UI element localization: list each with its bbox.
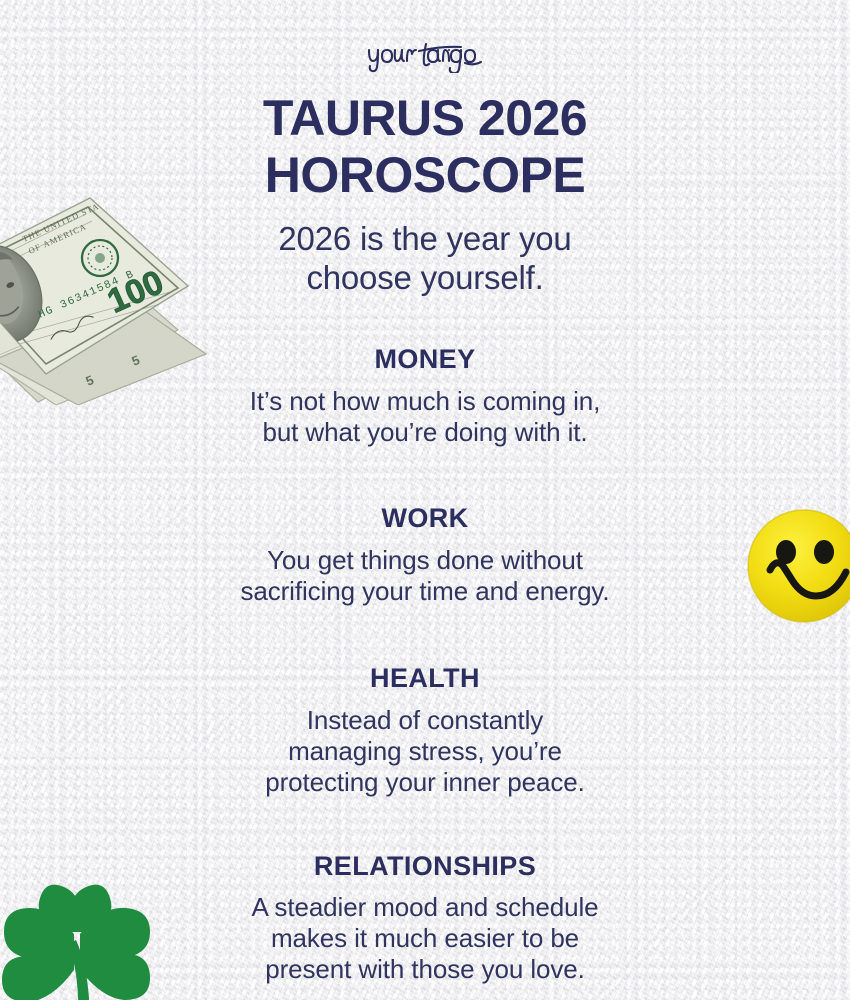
section-work-line-1: You get things done without bbox=[75, 545, 775, 576]
section-health-body: Instead of constantly managing stress, y… bbox=[75, 705, 775, 798]
section-health-line-3: protecting your inner peace. bbox=[75, 767, 775, 798]
section-money: MONEY It’s not how much is coming in, bu… bbox=[75, 345, 775, 448]
section-relationships-line-3: present with those you love. bbox=[75, 954, 775, 985]
section-relationships-line-2: makes it much easier to be bbox=[75, 923, 775, 954]
section-work-body: You get things done without sacrificing … bbox=[75, 545, 775, 607]
section-health-line-1: Instead of constantly bbox=[75, 705, 775, 736]
section-relationships-line-1: A steadier mood and schedule bbox=[75, 892, 775, 923]
section-money-title: MONEY bbox=[75, 345, 775, 375]
headline-line-2: HOROSCOPE bbox=[105, 147, 745, 204]
section-relationships-body: A steadier mood and schedule makes it mu… bbox=[75, 892, 775, 985]
subtitle-line-2: choose yourself. bbox=[115, 259, 735, 298]
subtitle-line-1: 2026 is the year you bbox=[115, 220, 735, 259]
section-health-line-2: managing stress, you’re bbox=[75, 736, 775, 767]
subtitle: 2026 is the year you choose yourself. bbox=[115, 220, 735, 298]
section-health: HEALTH Instead of constantly managing st… bbox=[75, 664, 775, 798]
section-money-line-1: It’s not how much is coming in, bbox=[75, 386, 775, 417]
section-health-title: HEALTH bbox=[75, 664, 775, 694]
section-money-line-2: but what you’re doing with it. bbox=[75, 417, 775, 448]
section-work: WORK You get things done without sacrifi… bbox=[75, 504, 775, 607]
yourtango-logo-glyph bbox=[366, 39, 484, 73]
section-money-body: It’s not how much is coming in, but what… bbox=[75, 386, 775, 448]
yourtango-script-logo[interactable]: yourtango bbox=[366, 38, 484, 74]
section-work-title: WORK bbox=[75, 504, 775, 534]
page-title: TAURUS 2026 HOROSCOPE bbox=[105, 90, 745, 203]
section-relationships: RELATIONSHIPS A steadier mood and schedu… bbox=[75, 852, 775, 986]
poster-content: yourtango TAURUS 2026 HOROSCOPE 2026 is … bbox=[0, 0, 850, 1000]
headline-line-1: TAURUS 2026 bbox=[105, 90, 745, 147]
section-relationships-title: RELATIONSHIPS bbox=[75, 852, 775, 882]
section-work-line-2: sacrificing your time and energy. bbox=[75, 576, 775, 607]
